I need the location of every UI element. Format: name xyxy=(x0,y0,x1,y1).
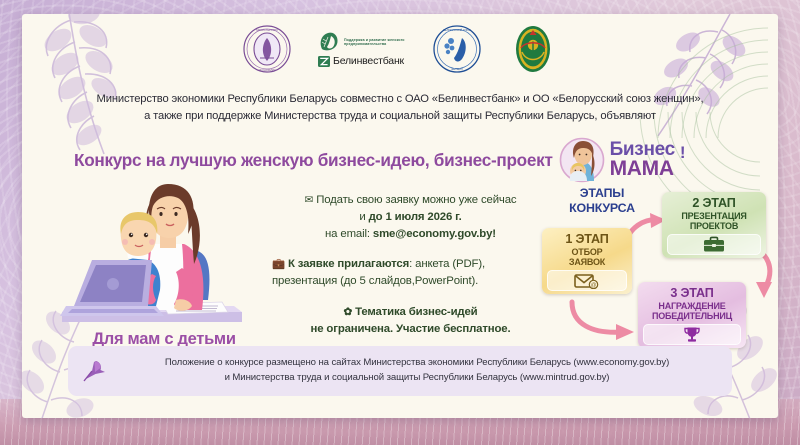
envelope-icon: ✉ xyxy=(305,194,314,206)
stages-title-1: ЭТАПЫ xyxy=(550,186,654,201)
attachments-line-2: презентация (до 5 слайдов,PowerPoint). xyxy=(272,273,553,290)
belinvestbank-caption: Поддержка и развитие женского предприним… xyxy=(344,38,406,47)
attachments-line-1: 💼К заявке прилагаются: анкета (PDF), xyxy=(272,256,553,273)
regulation-note-line-2: и Министерства труда и социальной защиты… xyxy=(116,371,718,386)
belinvestbank-wordmark: Белинвестбанк xyxy=(333,55,404,67)
briefcase-icon: 💼 xyxy=(272,258,285,270)
ministry-line-1: Министерство экономики Республики Белару… xyxy=(62,91,738,108)
info-bullets: ✉Подать свою заявку можно уже сейчас и д… xyxy=(268,192,553,351)
svg-text:МИНИСТЕРСТВО: МИНИСТЕРСТВО xyxy=(256,28,278,32)
regulation-note: Положение о конкурсе размещено на сайтах… xyxy=(68,346,732,396)
belarusian-union-of-women-emblem: БЕЛОРУССКИЙ СОЮЗ ЖЕНЩИН xyxy=(432,24,482,74)
ministry-labour-emblem xyxy=(508,24,558,74)
arrow-stage1-to-stage3 xyxy=(566,298,646,342)
stage-2-number: 2 ЭТАП xyxy=(667,196,761,210)
brand-exclamation: ! xyxy=(680,143,686,163)
contest-title: Конкурс на лучшую женскую бизнес-идею, б… xyxy=(74,150,553,171)
ministry-economy-emblem: МИНИСТЕРСТВО ЭКОНОМИКИ xyxy=(242,24,292,74)
leaf-icon: ✿ xyxy=(343,306,352,318)
stage-3-desc: НАГРАЖДЕНИЕ ПОБЕДИТЕЛЬНИЦ xyxy=(643,301,741,321)
application-line-3: на email: sme@economy.gov.by! xyxy=(268,226,553,243)
application-line-1: ✉Подать свою заявку можно уже сейчас xyxy=(268,192,553,209)
email-address[interactable]: sme@economy.gov.by! xyxy=(373,228,496,240)
application-line-2: и до 1 июля 2026 г. xyxy=(268,209,553,226)
svg-text:БЕЛОРУССКИЙ СОЮЗ: БЕЛОРУССКИЙ СОЮЗ xyxy=(443,29,471,32)
svg-text:ЖЕНЩИН: ЖЕНЩИН xyxy=(451,68,463,71)
trophy-icon xyxy=(643,324,741,345)
working-mother-illustration xyxy=(56,172,266,347)
mother-and-baby-badge-icon xyxy=(559,137,605,183)
stage-1-desc: ОТБОР ЗАЯВОК xyxy=(547,247,627,267)
stage-3-number: 3 ЭТАП xyxy=(643,286,741,300)
stages-diagram: ЭТАПЫ КОНКУРСА 1 ЭТАП ОТБОР ЗАЯВОК xyxy=(542,186,778,351)
stage-1-number: 1 ЭТАП xyxy=(547,232,627,246)
belinvestbank-logo: Поддержка и развитие женского предприним… xyxy=(318,31,406,67)
info-block-topic: ✿Тематика бизнес-идей не ограничена. Уча… xyxy=(268,304,553,338)
info-block-application: ✉Подать свою заявку можно уже сейчас и д… xyxy=(268,192,553,243)
ministry-line-2: а также при поддержке Министерства труда… xyxy=(62,108,738,125)
regulation-note-text: Положение о конкурсе размещено на сайтах… xyxy=(116,356,718,386)
briefcase-icon xyxy=(667,234,761,255)
ministry-statement: Министерство экономики Республики Белару… xyxy=(62,91,738,126)
belinvestbank-mark-icon xyxy=(318,56,330,67)
info-block-attachments: 💼К заявке прилагаются: анкета (PDF), пре… xyxy=(272,256,553,290)
regulation-note-line-1: Положение о конкурсе размещено на сайтах… xyxy=(116,356,718,371)
stage-2-desc: ПРЕЗЕНТАЦИЯ ПРОЕКТОВ xyxy=(667,211,761,231)
deadline-date: до 1 июля 2026 г. xyxy=(369,211,462,223)
svg-text:@: @ xyxy=(591,282,597,288)
stage-3-card[interactable]: 3 ЭТАП НАГРАЖДЕНИЕ ПОБЕДИТЕЛЬНИЦ xyxy=(638,282,746,348)
topic-line-2: не ограничена. Участие бесплатное. xyxy=(268,321,553,338)
business-mama-brand: Бизнес МАМА ! xyxy=(559,137,686,183)
brand-line-2: МАМА xyxy=(610,159,675,179)
svg-text:ЭКОНОМИКИ: ЭКОНОМИКИ xyxy=(259,68,276,72)
stage-2-card[interactable]: 2 ЭТАП ПРЕЗЕНТАЦИЯ ПРОЕКТОВ xyxy=(662,192,766,258)
stage-1-card[interactable]: 1 ЭТАП ОТБОР ЗАЯВОК @ xyxy=(542,228,632,294)
green-woman-tree-icon xyxy=(318,31,340,53)
email-at-icon: @ xyxy=(547,270,627,291)
topic-line-1: ✿Тематика бизнес-идей xyxy=(268,304,553,321)
poster-card: МИНИСТЕРСТВО ЭКОНОМИКИ Поддержка и разви… xyxy=(22,14,778,418)
poster: МИНИСТЕРСТВО ЭКОНОМИКИ Поддержка и разви… xyxy=(0,0,800,445)
logo-row: МИНИСТЕРСТВО ЭКОНОМИКИ Поддержка и разви… xyxy=(22,24,778,74)
pushpin-icon xyxy=(82,358,108,384)
